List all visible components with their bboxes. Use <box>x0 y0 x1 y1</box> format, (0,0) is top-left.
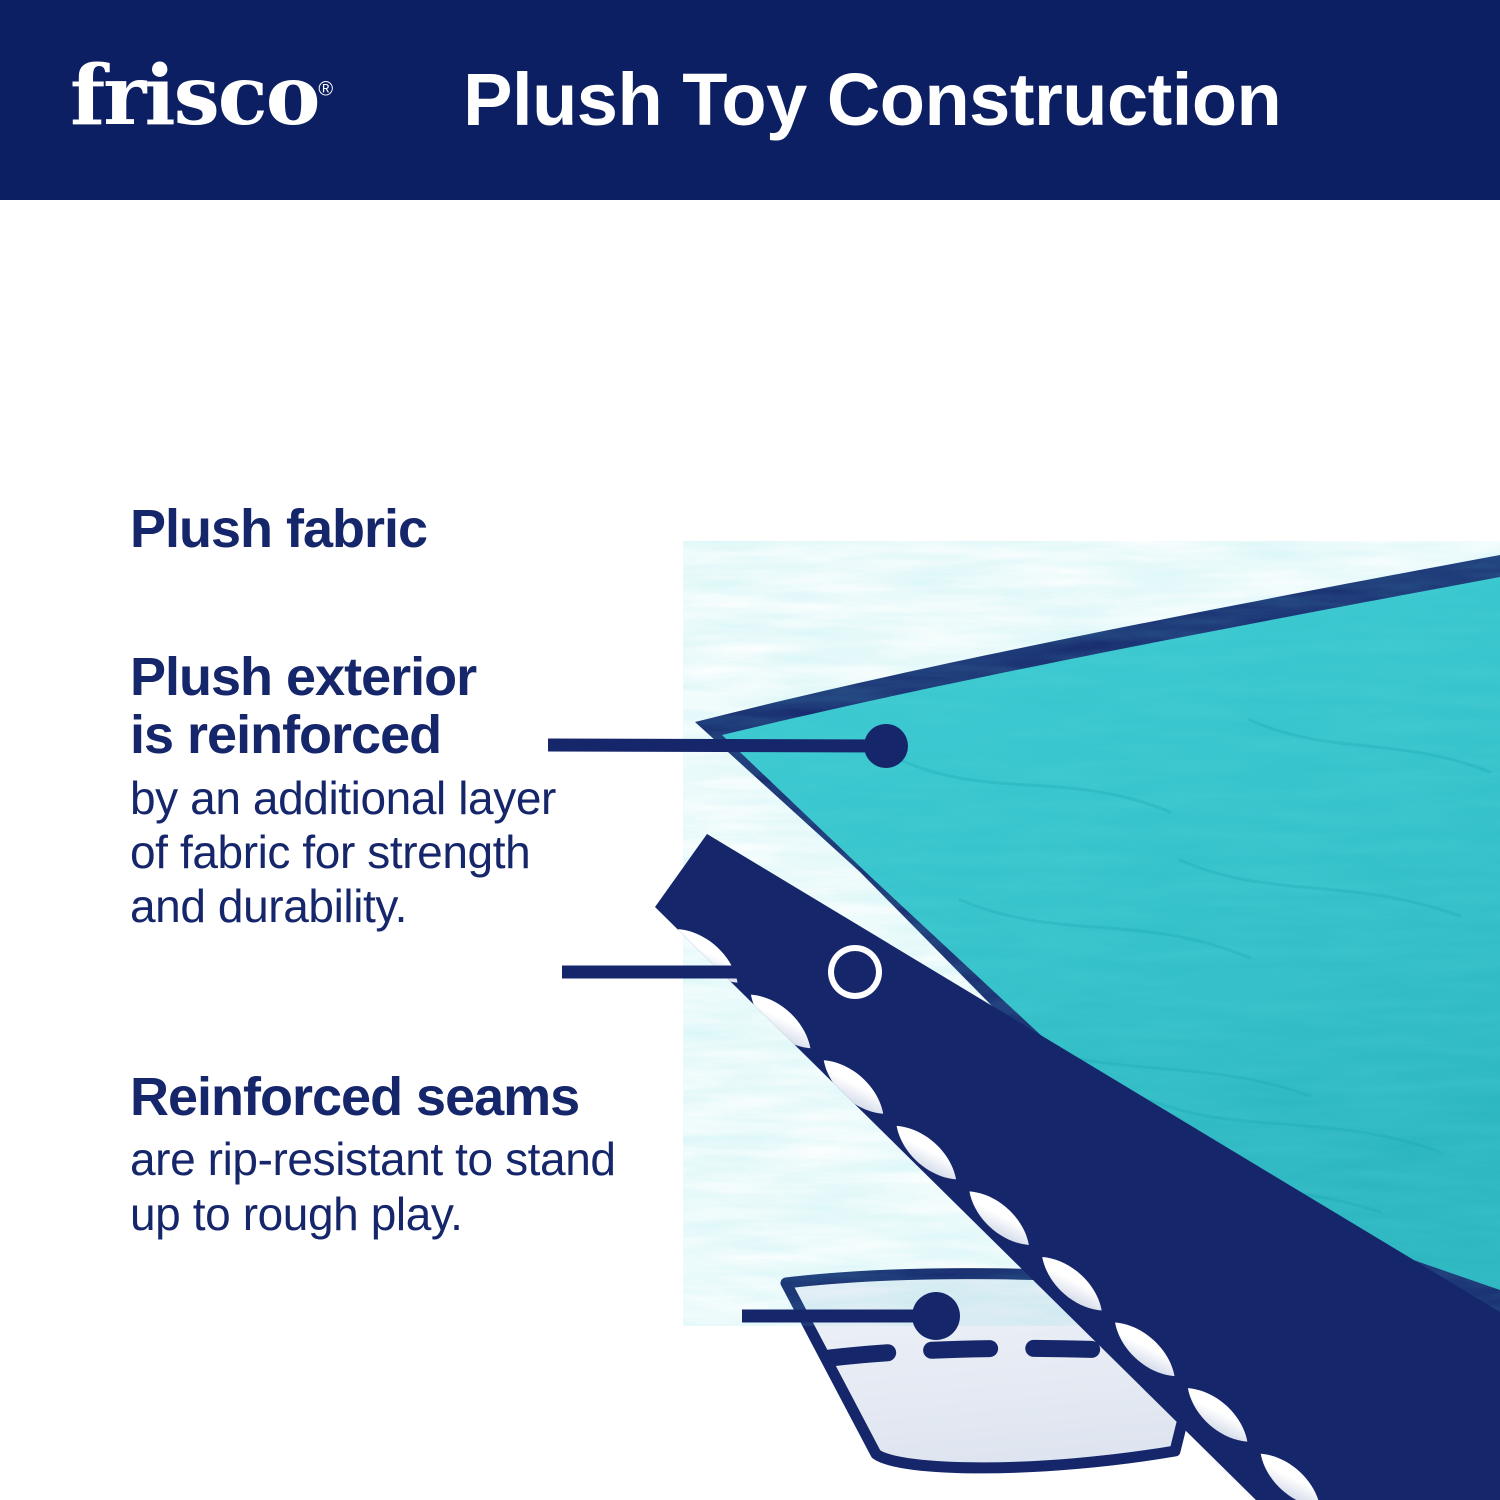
callout-plush-exterior-body: by an additional layer of fabric for str… <box>130 771 730 934</box>
callout-plush-exterior: Plush exterior is reinforced by an addit… <box>130 648 730 933</box>
leader-dot-plush-fabric <box>864 724 908 768</box>
callout-reinforced-seams: Reinforced seams are rip-resistant to st… <box>130 1068 810 1241</box>
frisco-logo: frisco® <box>70 55 333 137</box>
callout-plush-exterior-heading: Plush exterior is reinforced <box>130 648 730 765</box>
leader-dot-plush-exterior <box>834 951 876 993</box>
callout-reinforced-seams-heading: Reinforced seams <box>130 1068 810 1126</box>
callout-plush-fabric-heading: Plush fabric <box>130 500 690 558</box>
registered-trademark-icon: ® <box>318 79 333 101</box>
brand-wordmark: frisco <box>70 48 318 144</box>
page-title: Plush Toy Construction <box>463 63 1281 137</box>
leader-dot-reinforced-seams <box>912 1292 960 1340</box>
callout-reinforced-seams-body: are rip-resistant to stand up to rough p… <box>130 1132 810 1241</box>
header-bar: frisco® Plush Toy Construction <box>0 0 1500 200</box>
callout-plush-fabric: Plush fabric <box>130 500 690 558</box>
